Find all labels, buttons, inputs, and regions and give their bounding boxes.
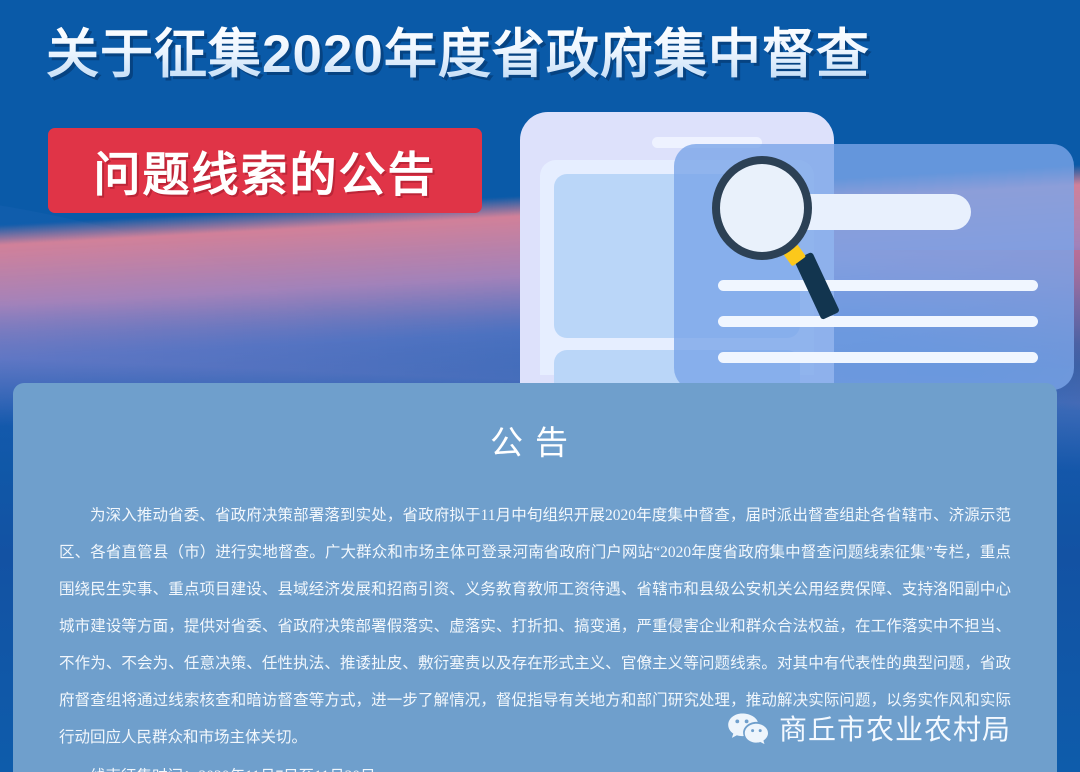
wechat-icon	[727, 712, 769, 744]
subtitle-badge: 问题线索的公告	[48, 128, 482, 213]
magnifying-glass-icon	[712, 156, 812, 260]
document-text-line	[718, 280, 1038, 291]
announcement-panel: 公告 为深入推动省委、省政府决策部署落到实处，省政府拟于11月中旬组织开展202…	[13, 383, 1057, 772]
wechat-account-name: 商丘市农业农村局	[779, 708, 1011, 748]
announcement-title: 公告	[13, 416, 1057, 464]
document-text-line	[718, 352, 1038, 363]
announcement-poster: 关于征集2020年度省政府集中督查 关于征集2020年度省政府集中督查 问题线索…	[0, 0, 1080, 772]
hero-illustration	[486, 104, 1080, 390]
announcement-footnotes: 线索征集时间：2020年11月7日至11月20日。 感谢对省政府集中督查工作的关…	[59, 760, 1011, 772]
collection-period-text: 线索征集时间：2020年11月7日至11月20日。	[59, 760, 1011, 772]
wechat-signature[interactable]: 商丘市农业农村局	[727, 708, 1011, 748]
document-text-line	[718, 316, 1038, 327]
subtitle-badge-label: 问题线索的公告	[94, 136, 437, 205]
poster-headline: 关于征集2020年度省政府集中督查	[46, 24, 870, 86]
document-card-pill	[786, 194, 971, 230]
